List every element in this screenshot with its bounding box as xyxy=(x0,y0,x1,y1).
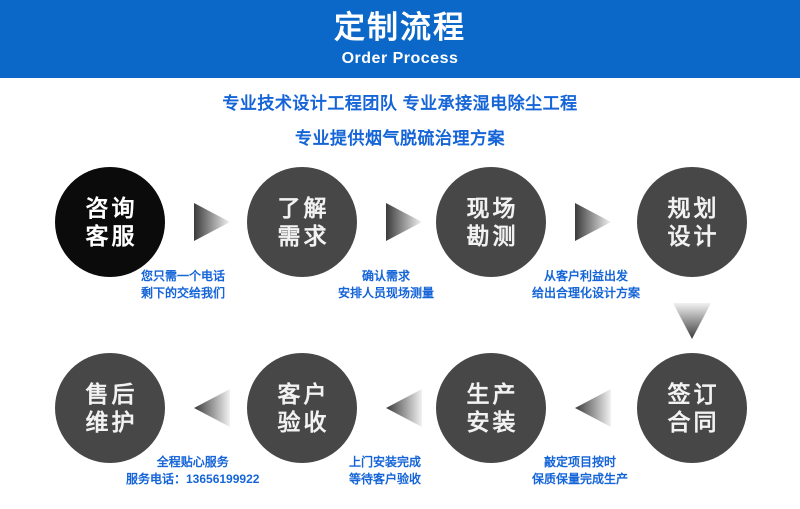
arrow-left-icon xyxy=(194,389,230,427)
order-process-infographic: 定制流程 Order Process 专业技术设计工程团队 专业承接湿电除尘工程… xyxy=(0,0,800,509)
step-label-line1: 签订 xyxy=(665,380,720,408)
arrow-right-icon xyxy=(386,203,422,241)
step-label-line2: 设计 xyxy=(665,222,720,250)
step-node-sign-contract: 签订 合同 xyxy=(637,353,747,463)
step-caption-customer-acceptance: 全程贴心服务 服务电话：13656199922 xyxy=(126,454,259,489)
step-label-line2: 安装 xyxy=(464,408,519,436)
tagline-line-2: 专业提供烟气脱硫治理方案 xyxy=(0,124,800,149)
arrow-left-icon xyxy=(386,389,422,427)
step-label-line1: 售后 xyxy=(83,380,138,408)
step-node-site-survey: 现场 勘测 xyxy=(436,167,546,277)
header-banner: 定制流程 Order Process xyxy=(0,0,800,78)
step-caption-site-survey: 从客户利益出发 给出合理化设计方案 xyxy=(532,268,640,303)
arrow-down-icon xyxy=(673,303,711,339)
step-node-requirements: 了解 需求 xyxy=(247,167,357,277)
caption-line-1: 上门安装完成 xyxy=(349,454,421,471)
page-subtitle: Order Process xyxy=(342,50,459,68)
step-label-line2: 需求 xyxy=(275,222,330,250)
caption-line-1: 敲定项目按时 xyxy=(532,454,628,471)
step-label-line2: 勘测 xyxy=(464,222,519,250)
step-node-customer-acceptance: 客户 验收 xyxy=(247,353,357,463)
caption-line-2: 给出合理化设计方案 xyxy=(532,285,640,302)
step-label-line1: 客户 xyxy=(275,380,330,408)
step-label-line1: 生产 xyxy=(464,380,519,408)
caption-line-2: 等待客户验收 xyxy=(349,471,421,488)
step-caption-production-install: 上门安装完成 等待客户验收 xyxy=(349,454,421,489)
caption-line-2: 安排人员现场测量 xyxy=(338,285,434,302)
step-caption-sign-contract: 敲定项目按时 保质保量完成生产 xyxy=(532,454,628,489)
step-label-line2: 客服 xyxy=(83,222,138,250)
caption-line-2: 剩下的交给我们 xyxy=(141,285,225,302)
caption-line-2: 保质保量完成生产 xyxy=(532,471,628,488)
step-label-line1: 规划 xyxy=(665,194,720,222)
step-label-line1: 了解 xyxy=(275,194,330,222)
step-caption-consult: 您只需一个电话 剩下的交给我们 xyxy=(141,268,225,303)
step-node-consult: 咨询 客服 xyxy=(55,167,165,277)
caption-line-1: 您只需一个电话 xyxy=(141,268,225,285)
arrow-left-icon xyxy=(575,389,611,427)
service-phone-line: 服务电话：13656199922 xyxy=(126,471,259,488)
arrow-right-icon xyxy=(194,203,230,241)
step-label-line2: 验收 xyxy=(275,408,330,436)
arrow-right-icon xyxy=(575,203,611,241)
step-label-line2: 维护 xyxy=(83,408,138,436)
step-node-production-install: 生产 安装 xyxy=(436,353,546,463)
page-title: 定制流程 xyxy=(334,11,466,45)
step-node-planning-design: 规划 设计 xyxy=(637,167,747,277)
step-label-line1: 咨询 xyxy=(83,194,138,222)
step-node-after-sales: 售后 维护 xyxy=(55,353,165,463)
step-label-line1: 现场 xyxy=(464,194,519,222)
step-caption-requirements: 确认需求 安排人员现场测量 xyxy=(338,268,434,303)
step-label-line2: 合同 xyxy=(665,408,720,436)
tagline-line-1: 专业技术设计工程团队 专业承接湿电除尘工程 xyxy=(0,89,800,114)
caption-line-1: 确认需求 xyxy=(338,268,434,285)
caption-line-1: 全程贴心服务 xyxy=(126,454,259,471)
caption-line-1: 从客户利益出发 xyxy=(532,268,640,285)
